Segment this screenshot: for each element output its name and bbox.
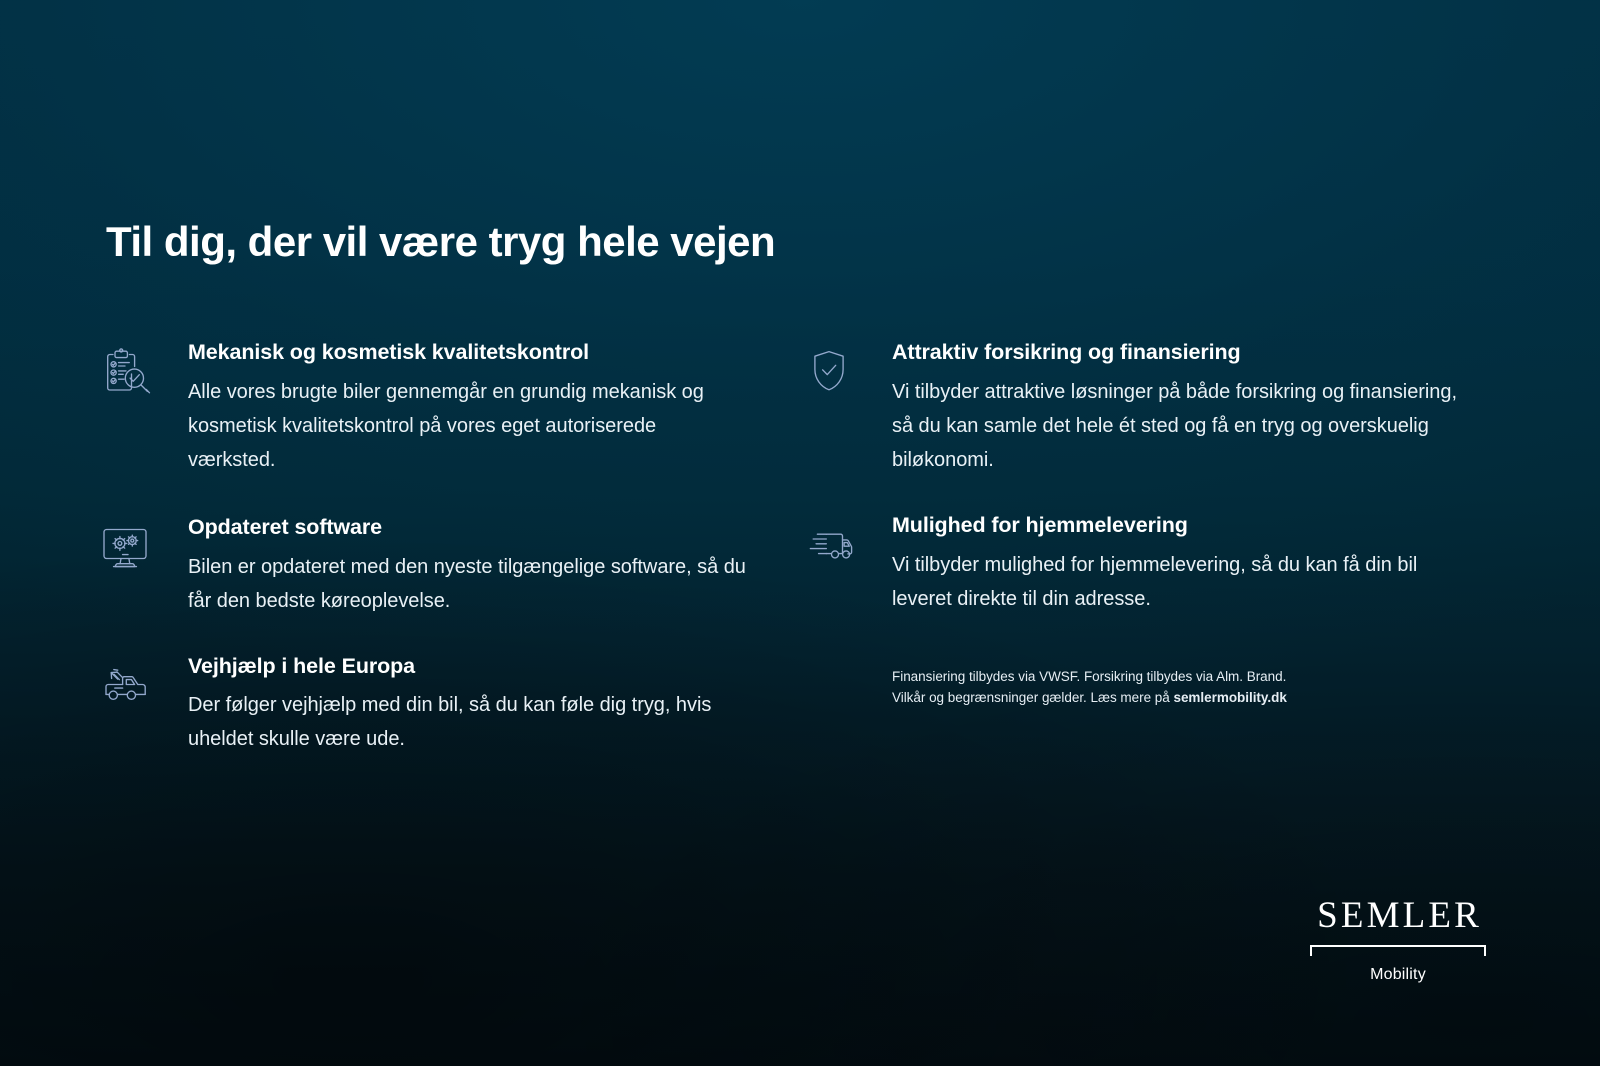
feature-roadside-assistance: Vejhjælp i hele Europa Der følger vejhjæ… (100, 654, 770, 757)
feature-description: Vi tilbyder mulighed for hjemmelevering,… (892, 548, 1482, 616)
delivery-truck-icon (804, 521, 866, 579)
feature-title: Mekanisk og kosmetisk kvalitetskontrol (188, 340, 770, 366)
semler-mobility-logo: SEMLER Mobility (1309, 897, 1487, 984)
page-title: Til dig, der vil være tryg hele vejen (106, 218, 775, 265)
feature-description: Vi tilbyder attraktive løsninger på både… (892, 375, 1482, 477)
feature-description: Alle vores brugte biler gennemgår en gru… (188, 375, 748, 477)
monitor-gears-icon (100, 523, 162, 581)
promo-banner: Til dig, der vil være tryg hele vejen (0, 0, 1600, 1066)
banner-content: Til dig, der vil være tryg hele vejen (0, 0, 1600, 1066)
feature-title: Opdateret software (188, 515, 770, 541)
feature-description: Bilen er opdateret med den nyeste tilgæn… (188, 550, 748, 618)
disclaimer-line-1: Finansiering tilbydes via VWSF. Forsikri… (892, 666, 1372, 688)
logo-divider-cap-left (1310, 945, 1312, 956)
feature-home-delivery: Mulighed for hjemmelevering Vi tilbyder … (804, 513, 1500, 616)
feature-description: Der følger vejhjælp med din bil, så du k… (188, 688, 748, 756)
logo-divider-cap-right (1484, 945, 1486, 956)
feature-text: Attraktiv forsikring og finansiering Vi … (892, 340, 1500, 477)
tow-truck-icon (100, 662, 162, 720)
features-grid: Mekanisk og kosmetisk kvalitetskontrol A… (100, 340, 1500, 794)
shield-check-icon (804, 348, 866, 406)
disclaimer-line-2-text: Vilkår og begrænsninger gælder. Læs mere… (892, 690, 1173, 705)
feature-insurance-financing: Attraktiv forsikring og finansiering Vi … (804, 340, 1500, 477)
feature-text: Mekanisk og kosmetisk kvalitetskontrol A… (188, 340, 770, 477)
feature-title: Attraktiv forsikring og finansiering (892, 340, 1500, 366)
features-column-left: Mekanisk og kosmetisk kvalitetskontrol A… (100, 340, 800, 794)
features-column-right: Attraktiv forsikring og finansiering Vi … (800, 340, 1500, 794)
logo-divider (1310, 945, 1486, 957)
feature-title: Vejhjælp i hele Europa (188, 654, 770, 680)
logo-wordmark: SEMLER (1309, 897, 1487, 934)
logo-divider-bar (1310, 945, 1486, 947)
disclaimer-line-2: Vilkår og begrænsninger gælder. Læs mere… (892, 687, 1372, 709)
clipboard-check-magnifier-icon (100, 348, 162, 406)
feature-updated-software: Opdateret software Bilen er opdateret me… (100, 515, 770, 618)
feature-text: Vejhjælp i hele Europa Der følger vejhjæ… (188, 654, 770, 757)
logo-subtitle: Mobility (1309, 966, 1487, 984)
feature-title: Mulighed for hjemmelevering (892, 513, 1500, 539)
disclaimer-website-link[interactable]: semlermobility.dk (1173, 690, 1286, 705)
legal-disclaimer: Finansiering tilbydes via VWSF. Forsikri… (892, 666, 1372, 710)
feature-quality-control: Mekanisk og kosmetisk kvalitetskontrol A… (100, 340, 770, 477)
feature-text: Opdateret software Bilen er opdateret me… (188, 515, 770, 618)
feature-text: Mulighed for hjemmelevering Vi tilbyder … (892, 513, 1500, 616)
